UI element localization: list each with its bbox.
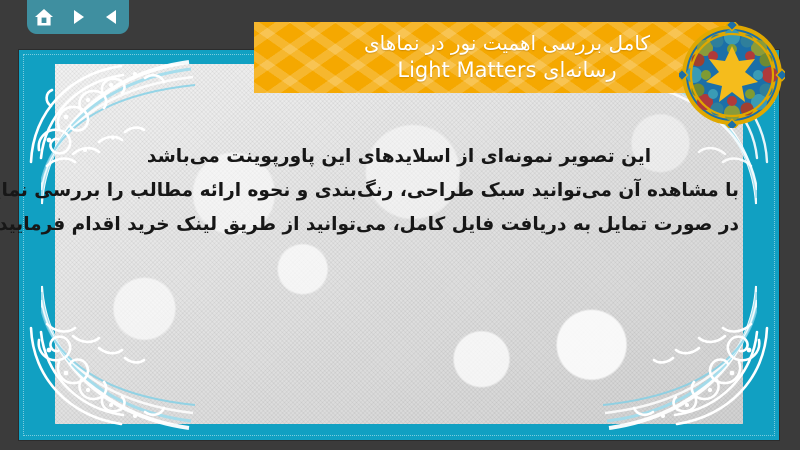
slide-body-text: این تصویر نمونه‌ای از اسلایدهای این پاور… <box>60 140 740 242</box>
slide-content-area <box>56 64 744 424</box>
navigation-bar <box>28 0 130 34</box>
slide-canvas <box>20 50 780 440</box>
home-icon <box>35 8 55 27</box>
banner-title-line-1: کامل بررسی اهمیت نور در نماهای <box>281 30 735 56</box>
triangle-right-icon <box>70 8 88 26</box>
back-button[interactable] <box>102 6 124 28</box>
home-button[interactable] <box>34 6 56 28</box>
body-line-1: این تصویر نمونه‌ای از اسلایدهای این پاور… <box>60 140 740 174</box>
slide-viewer: این تصویر نمونه‌ای از اسلایدهای این پاور… <box>0 0 800 450</box>
triangle-left-icon <box>104 8 122 26</box>
slide-title-banner: کامل بررسی اهمیت نور در نماهای رسانه‌ای … <box>255 22 735 93</box>
persian-medallion-icon <box>680 22 786 128</box>
body-line-3: در صورت تمایل به دریافت فایل کامل، می‌تو… <box>60 208 740 242</box>
forward-button[interactable] <box>68 6 90 28</box>
banner-title-line-2: رسانه‌ای Light Matters <box>281 57 735 85</box>
body-line-2: با مشاهده آن می‌توانید سبک طراحی، رنگ‌بن… <box>60 174 740 208</box>
